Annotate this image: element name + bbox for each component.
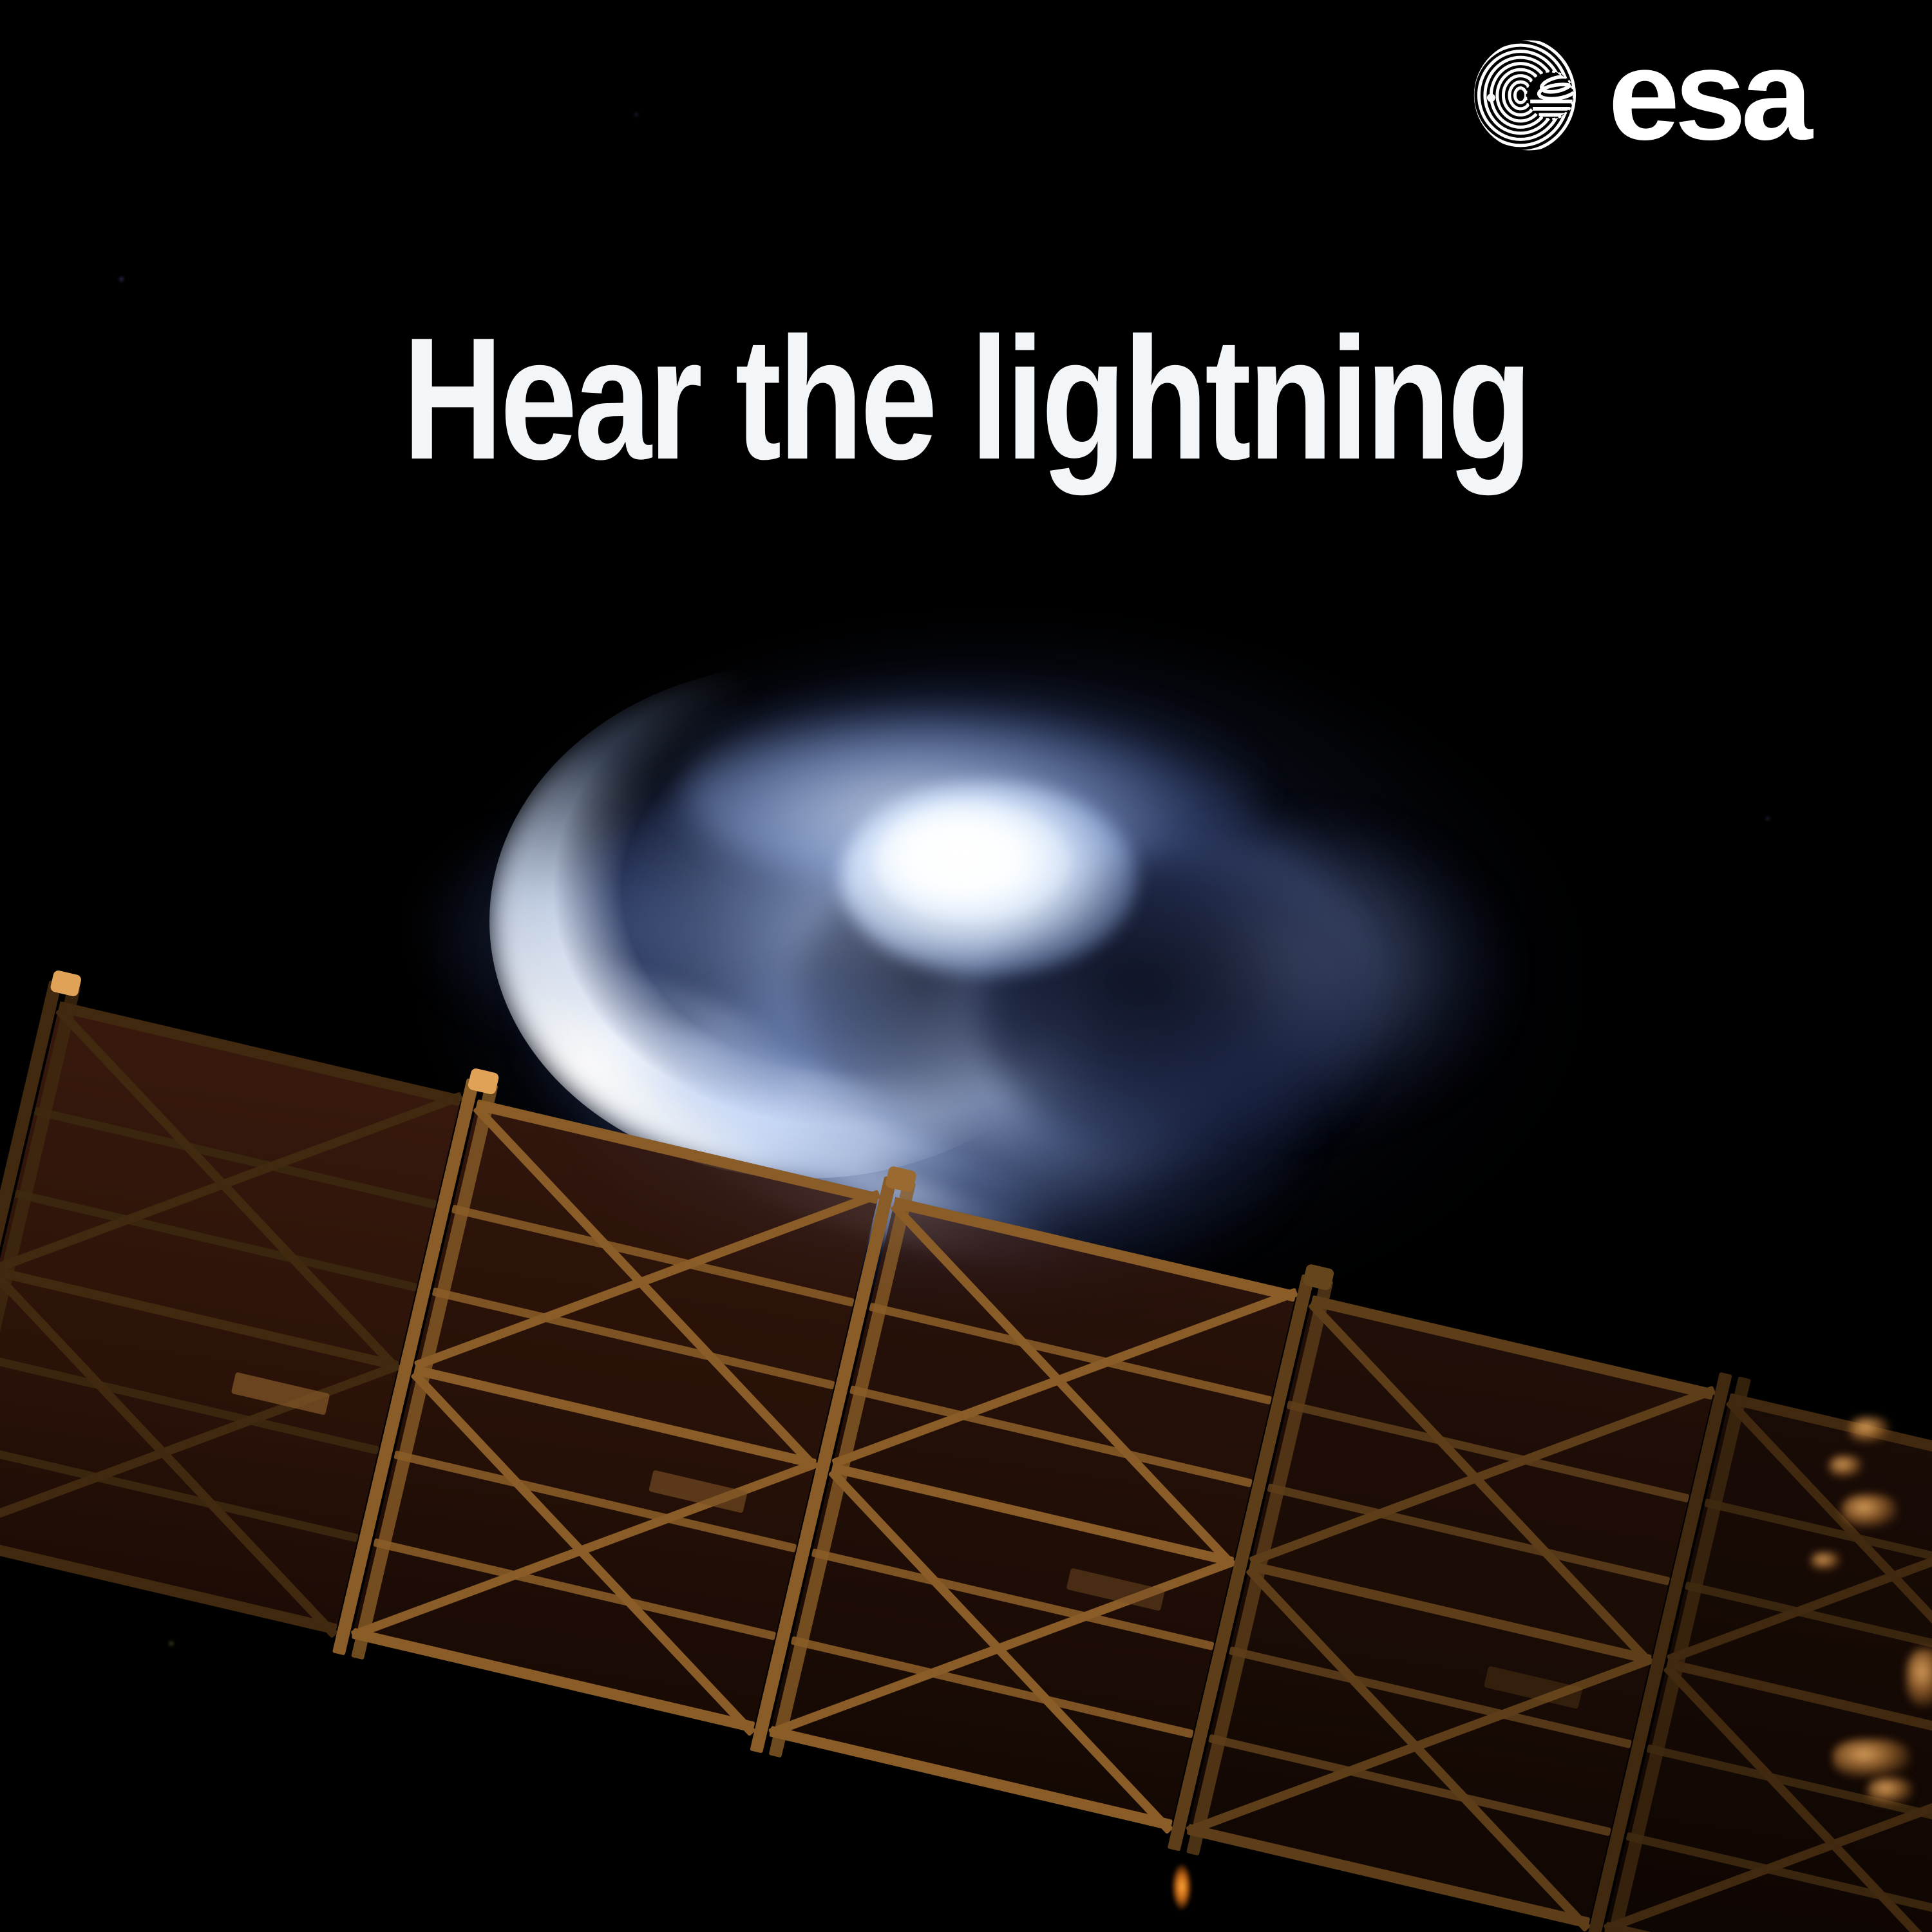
star [119,277,124,281]
truss-chord [893,1197,1297,1302]
truss-rung [0,1352,379,1455]
truss-bay [352,1099,879,1732]
iss-module-hardware [1850,1417,1889,1443]
lightning-core-hotspot [876,802,1069,921]
esa-wordmark: esa [1608,34,1808,156]
esa-sphere-mark-icon [1472,34,1594,156]
truss-rung [811,1548,1215,1651]
iss-truss-structure [0,966,1932,1932]
truss-rung [1208,1734,1611,1837]
truss-vertical-post [769,1180,916,1757]
star [169,1641,174,1646]
truss-post-cap [50,969,82,997]
truss-chord [0,1530,337,1635]
truss-diagonal [0,1272,338,1638]
iss-module-hardware [1868,1777,1913,1804]
truss-rung [14,1189,417,1292]
cloud-left-arm [419,824,689,1037]
truss-hardware-box [1066,1567,1165,1611]
truss-chord [58,1001,462,1106]
cloud-wisp [681,1118,1083,1290]
iss-module-hardware [1811,1552,1841,1570]
truss-vertical-post [1168,1274,1315,1851]
cloud-anvil-top [683,683,1262,895]
truss-hardware-box [1484,1666,1583,1709]
truss-diagonal [410,1370,755,1737]
truss-vertical-post [351,1083,498,1660]
truss-diagonal [768,1557,1235,1738]
truss-rung [451,1204,855,1307]
truss-chord [0,1267,399,1371]
cloud-dark-mass-right [979,857,1378,1159]
truss-rung [393,1450,797,1553]
truss-rung [791,1636,1194,1738]
truss-rung [33,1106,437,1209]
star [634,113,638,117]
truss-vertical-post [750,1176,897,1753]
truss-diagonal [1249,1386,1716,1566]
cloud-wisp [618,1046,1069,1253]
cloud-outer-halo [438,638,1584,1346]
truss-diagonal [890,1202,1235,1569]
truss-chord [1249,1561,1653,1665]
lightning-crescent-arc [489,663,1121,1179]
truss-chord [769,1726,1173,1831]
truss-bay [1186,1295,1714,1928]
truss-diagonal [0,1092,463,1272]
truss-post-cap [885,1166,918,1193]
esa-social-card: Hear the lightning [0,0,1932,1932]
truss-chord [1728,1393,1932,1498]
esa-logo: esa [1472,31,1851,160]
iss-module-hardware [1842,1494,1897,1528]
truss-vertical-post [1186,1278,1334,1855]
truss-diagonal [0,1361,400,1542]
truss-vertical-post [1585,1372,1732,1932]
truss-chord [831,1463,1235,1567]
truss-bay [0,1001,462,1634]
module-indicator-light [1172,1864,1191,1909]
truss-hardware-box [649,1470,748,1513]
truss-rung [1229,1646,1632,1748]
truss-diagonal [831,1288,1298,1468]
truss-chord [1604,1922,1932,1932]
truss-rung [0,1440,359,1542]
truss-diagonal [1725,1398,1932,1765]
truss-chord [1186,1824,1590,1929]
lightning-core-glow [840,782,1137,976]
truss-bay [769,1197,1296,1830]
cloud-wisp [528,933,863,1134]
truss-post-cap [467,1068,500,1095]
truss-diagonal [350,1459,817,1640]
truss-radiator-panel [352,1099,879,1732]
truss-rung [1287,1401,1690,1503]
iss-module-hardware [1829,1455,1862,1477]
truss-rung [1267,1483,1670,1586]
truss-radiator-panel [769,1197,1296,1830]
truss-rung [1704,1499,1932,1601]
truss-diagonal [414,1189,881,1370]
truss-diagonal [828,1468,1173,1835]
truss-diagonal [55,1007,401,1373]
star [59,1346,65,1352]
truss-chord [475,1099,879,1204]
cloud-lower-sweep [592,972,1301,1307]
truss-rung [1625,1832,1932,1932]
truss-rung [1685,1581,1932,1683]
truss-rung [869,1303,1272,1405]
truss-post-cap [1302,1264,1335,1291]
lightning-cloud [489,663,1552,1340]
truss-chord [413,1365,817,1469]
truss-radiator-panel [0,1001,462,1634]
truss-rung [373,1538,776,1640]
truss-vertical-post [0,980,62,1557]
truss-rung [432,1287,835,1390]
truss-bay [1604,1393,1932,1932]
cloud-mid-halo [528,721,1372,1275]
cloud-dark-mass-left [792,876,1069,1101]
iss-module-hardware [1833,1739,1910,1777]
star [1766,817,1770,820]
truss-radiator-panel [1186,1295,1714,1928]
truss-radiator-panel [1604,1393,1932,1932]
truss-vertical-post [1604,1376,1751,1932]
cloud-right-lobe [1108,824,1507,1127]
page-title: Hear the lightning [193,303,1739,496]
truss-diagonal [1245,1566,1591,1932]
truss-vertical-post [332,1078,480,1655]
cloud-wisp [566,988,980,1202]
truss-vertical-post [0,985,80,1562]
truss-hardware-box [231,1372,330,1415]
iss-module-hardware [1906,1649,1932,1707]
truss-chord [352,1628,755,1733]
truss-rung [849,1385,1253,1488]
truss-diagonal [473,1104,818,1471]
truss-diagonal [1308,1300,1653,1667]
truss-diagonal [1186,1655,1653,1835]
truss-chord [1311,1295,1714,1400]
